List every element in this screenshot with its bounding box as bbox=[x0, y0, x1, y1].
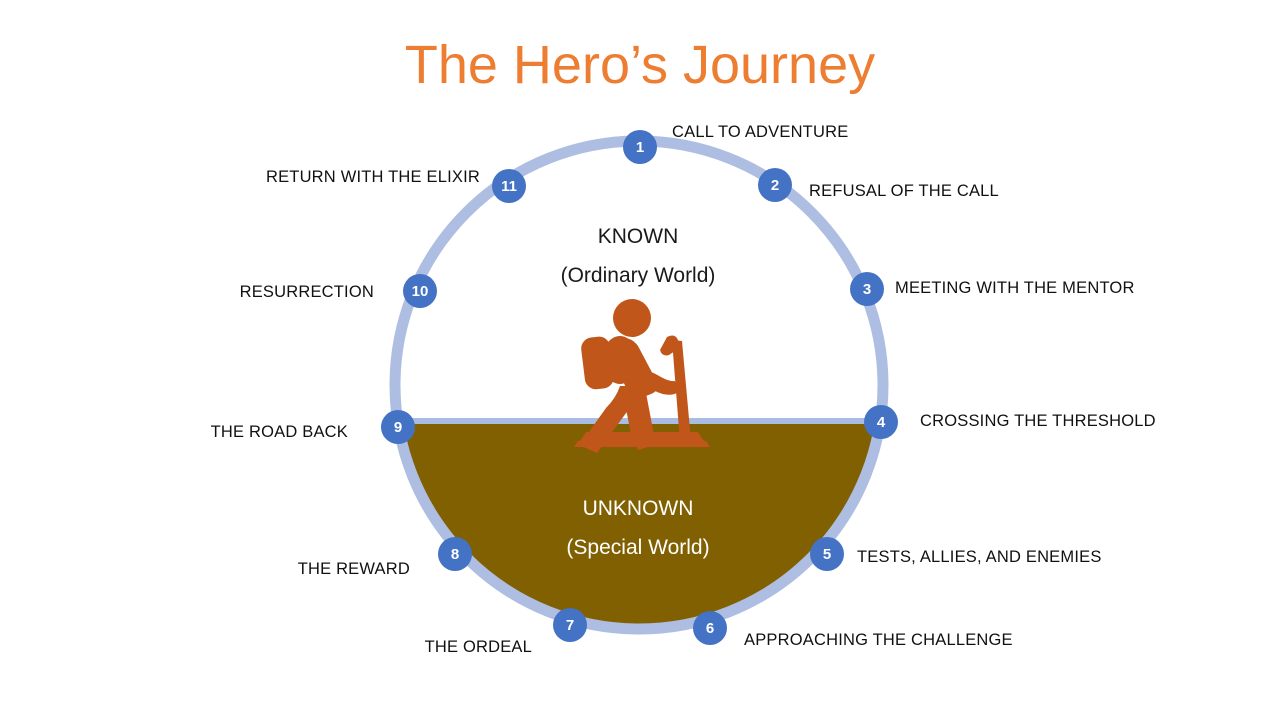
stage-node-10[interactable]: 10 bbox=[403, 274, 437, 308]
stage-label-3: MEETING WITH THE MENTOR bbox=[895, 279, 1135, 298]
stage-label-10: RESURRECTION bbox=[66, 283, 374, 302]
stage-node-6[interactable]: 6 bbox=[693, 611, 727, 645]
stage-node-7[interactable]: 7 bbox=[553, 608, 587, 642]
stage-label-1: CALL TO ADVENTURE bbox=[672, 123, 848, 142]
known-world-title: KNOWN bbox=[438, 218, 838, 257]
stage-label-11: RETURN WITH THE ELIXIR bbox=[160, 168, 480, 187]
stage-label-8: THE REWARD bbox=[102, 560, 410, 579]
stage-label-5: TESTS, ALLIES, AND ENEMIES bbox=[857, 548, 1102, 567]
stage-node-9[interactable]: 9 bbox=[381, 410, 415, 444]
slide-canvas: The Hero’s Journey bbox=[0, 0, 1280, 720]
stage-node-4[interactable]: 4 bbox=[864, 405, 898, 439]
stage-node-3[interactable]: 3 bbox=[850, 272, 884, 306]
unknown-world-label: UNKNOWN (Special World) bbox=[438, 490, 838, 568]
stage-node-8[interactable]: 8 bbox=[438, 537, 472, 571]
stage-node-11[interactable]: 11 bbox=[492, 169, 526, 203]
unknown-world-title: UNKNOWN bbox=[438, 490, 838, 529]
stage-node-5[interactable]: 5 bbox=[810, 537, 844, 571]
known-world-label: KNOWN (Ordinary World) bbox=[438, 218, 838, 296]
hiker-icon bbox=[574, 299, 710, 453]
stage-label-4: CROSSING THE THRESHOLD bbox=[920, 412, 1156, 431]
stage-label-7: THE ORDEAL bbox=[222, 638, 532, 657]
stage-label-9: THE ROAD BACK bbox=[42, 423, 348, 442]
heros-journey-diagram: KNOWN (Ordinary World) UNKNOWN (Special … bbox=[0, 0, 1280, 720]
journey-circle-graphic bbox=[0, 0, 1280, 720]
unknown-world-subtitle: (Special World) bbox=[438, 529, 838, 568]
stage-node-1[interactable]: 1 bbox=[623, 130, 657, 164]
stage-label-6: APPROACHING THE CHALLENGE bbox=[744, 631, 1013, 650]
known-world-subtitle: (Ordinary World) bbox=[438, 257, 838, 296]
stage-label-2: REFUSAL OF THE CALL bbox=[809, 182, 999, 201]
stage-node-2[interactable]: 2 bbox=[758, 168, 792, 202]
